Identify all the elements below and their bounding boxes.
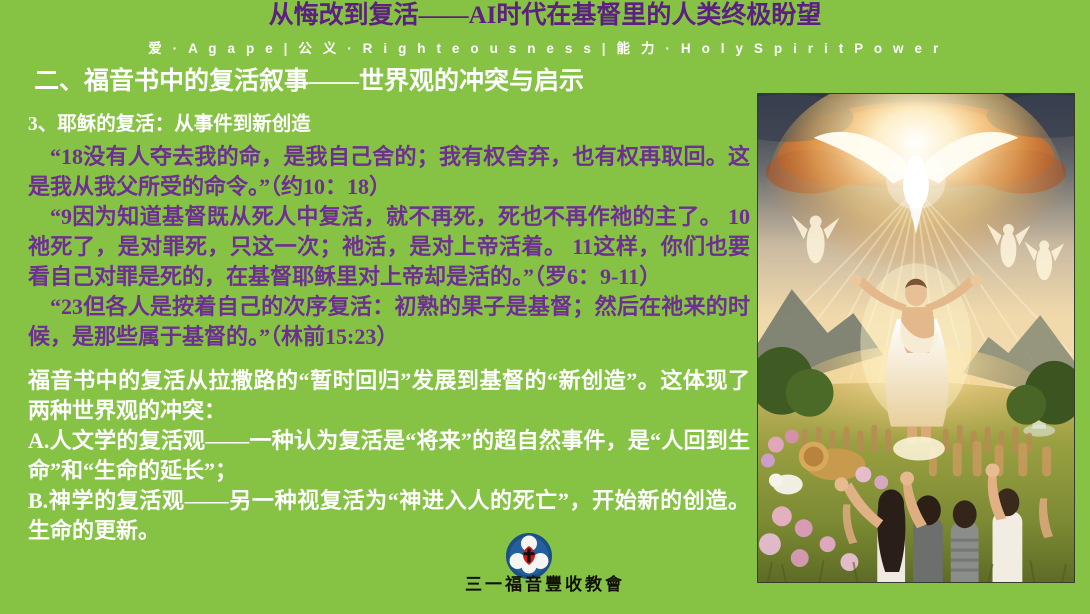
section-heading: 二、福音书中的复活叙事——世界观的冲突与启示 — [34, 66, 584, 98]
luther-rose-icon — [505, 532, 553, 580]
resurrection-illustration — [757, 93, 1075, 583]
scripture-romans-6-9-11: “9因为知道基督既从死人中复活，就不再死，死也不再作祂的主了。 10祂死了，是对… — [28, 202, 750, 292]
church-logo — [505, 532, 553, 580]
scripture-1cor-15-23: “23但各人是按着自己的次序复活：初熟的果子是基督；然后在祂来的时候，是那些属于… — [28, 292, 750, 352]
church-name: 三一福音豐收教會 — [0, 574, 1090, 596]
commentary-paragraph-intro: 福音书中的复活从拉撒路的“暂时回归”发展到基督的“新创造”。这体现了两种世界观的… — [28, 366, 750, 426]
deck-subtitle: 爱 · A g a p e | 公 义 · R i g h t e o u s … — [0, 40, 1090, 58]
body-text-column: 3、耶稣的复活：从事件到新创造 “18没有人夺去我的命，是我自己舍的；我有权舍弃… — [28, 112, 750, 546]
deck-title: 从悔改到复活——AI时代在基督里的人类终极盼望 — [0, 1, 1090, 31]
point-heading: 3、耶稣的复活：从事件到新创造 — [28, 112, 750, 138]
commentary-point-a: A.人文学的复活观——一种认为复活是“将来”的超自然事件，是“人回到生命”和“生… — [28, 426, 750, 486]
slide-canvas: 从悔改到复活——AI时代在基督里的人类终极盼望 爱 · A g a p e | … — [0, 0, 1090, 614]
scripture-john-10-18: “18没有人夺去我的命，是我自己舍的；我有权舍弃，也有权再取回。这是我从我父所受… — [28, 142, 750, 202]
spacer — [28, 352, 750, 366]
commentary-point-b: B.神学的复活观——另一种视复活为“神进入人的死亡”，开始新的创造。生命的更新。 — [28, 486, 750, 546]
resurrection-illustration-svg — [758, 94, 1074, 582]
